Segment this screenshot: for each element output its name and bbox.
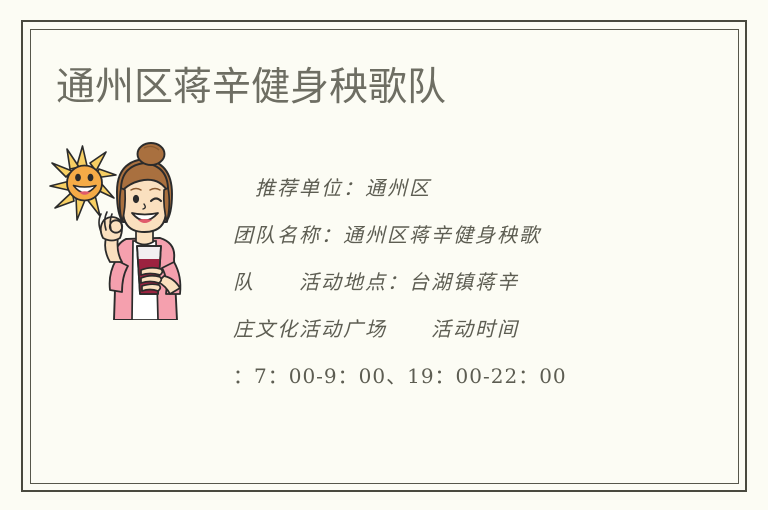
detail-line-team-name: 团队名称：通州区蒋辛健身秧歌 (233, 212, 645, 259)
detail-line-activity-time: ：7：00-9：00、19：00-22：00 (233, 353, 645, 400)
detail-line-activity-place-end: 庄文化活动广场 活动时间 (233, 306, 645, 353)
detail-line-activity-place-start: 队 活动地点：台湖镇蒋辛 (233, 259, 645, 306)
poster-card: 通州区蒋辛健身秧歌队 (0, 0, 768, 510)
page-title: 通州区蒋辛健身秧歌队 (56, 62, 676, 114)
activity-details: 推荐单位：通州区 团队名称：通州区蒋辛健身秧歌 队 活动地点：台湖镇蒋辛 庄文化… (233, 165, 645, 400)
smiling-sun-icon (50, 146, 116, 220)
winking-girl-drinking-juice-icon (99, 143, 180, 320)
detail-line-recommending-unit: 推荐单位：通州区 (233, 165, 645, 212)
sun-and-girl-with-juice-illustration (48, 142, 228, 320)
